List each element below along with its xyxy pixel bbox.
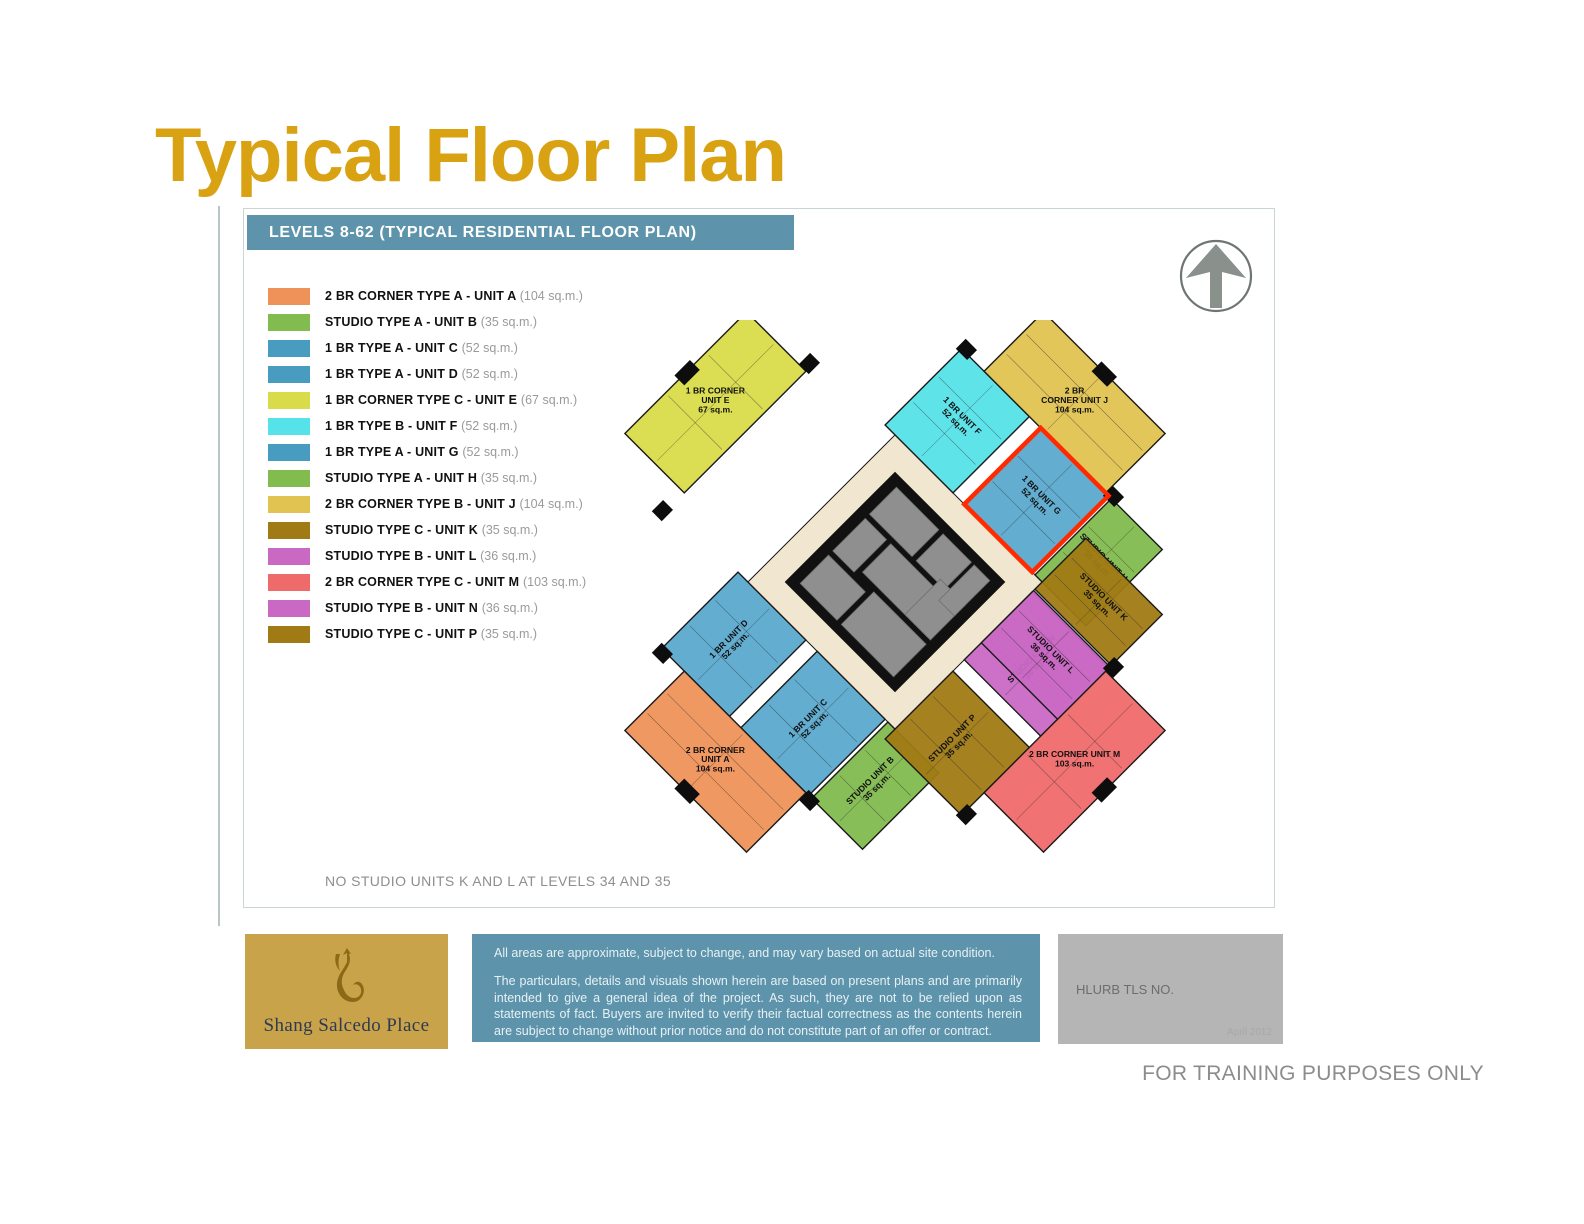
- legend-swatch: [268, 444, 310, 461]
- hlurb-date: April 2012: [1227, 1027, 1272, 1038]
- legend-swatch: [268, 470, 310, 487]
- hlurb-label: HLURB TLS NO.: [1076, 982, 1174, 997]
- left-vertical-rule: [218, 206, 220, 926]
- legend-swatch: [268, 366, 310, 383]
- legend-label: 1 BR TYPE A - UNIT D (52 sq.m.): [325, 367, 518, 381]
- hlurb-box: HLURB TLS NO. April 2012: [1058, 934, 1283, 1044]
- logo-text: Shang Salcedo Place: [245, 1015, 448, 1037]
- legend-swatch: [268, 340, 310, 357]
- section-banner: LEVELS 8-62 (TYPICAL RESIDENTIAL FLOOR P…: [247, 215, 794, 250]
- legend-swatch: [268, 522, 310, 539]
- legend-label: 1 BR TYPE B - UNIT F (52 sq.m.): [325, 419, 517, 433]
- disclaimer-box: All areas are approximate, subject to ch…: [472, 934, 1040, 1042]
- legend-item: 2 BR CORNER TYPE A - UNIT A (104 sq.m.): [268, 283, 668, 309]
- disclaimer-body: The particulars, details and visuals sho…: [494, 973, 1022, 1040]
- legend-swatch: [268, 548, 310, 565]
- legend-swatch: [268, 288, 310, 305]
- north-arrow-icon: [1178, 238, 1254, 314]
- legend-swatch: [268, 626, 310, 643]
- legend-swatch: [268, 496, 310, 513]
- legend-swatch: [268, 418, 310, 435]
- training-note: FOR TRAINING PURPOSES ONLY: [1142, 1062, 1484, 1086]
- page-title: Typical Floor Plan: [155, 118, 786, 194]
- legend-swatch: [268, 574, 310, 591]
- disclaimer-line-1: All areas are approximate, subject to ch…: [494, 945, 1022, 962]
- plan-note: NO STUDIO UNITS K AND L AT LEVELS 34 AND…: [325, 873, 671, 889]
- legend-label: 2 BR CORNER TYPE A - UNIT A (104 sq.m.): [325, 289, 583, 303]
- logo-box: Shang Salcedo Place: [245, 934, 448, 1049]
- legend-swatch: [268, 600, 310, 617]
- flame-plume-logo-icon: [316, 946, 378, 1008]
- slide-page: Typical Floor Plan LEVELS 8-62 (TYPICAL …: [0, 0, 1584, 1224]
- legend-swatch: [268, 392, 310, 409]
- legend-swatch: [268, 314, 310, 331]
- floor-plan-drawing: 1 BR UNIT F52 sq.m.1 BR UNIT G52 sq.m.ST…: [500, 320, 1290, 860]
- section-banner-label: LEVELS 8-62 (TYPICAL RESIDENTIAL FLOOR P…: [247, 224, 697, 242]
- legend-label: 1 BR TYPE A - UNIT C (52 sq.m.): [325, 341, 518, 355]
- floor-plan-unit: 1 BR CORNERUNIT E67 sq.m.: [625, 320, 806, 493]
- legend-label: 1 BR TYPE A - UNIT G (52 sq.m.): [325, 445, 519, 459]
